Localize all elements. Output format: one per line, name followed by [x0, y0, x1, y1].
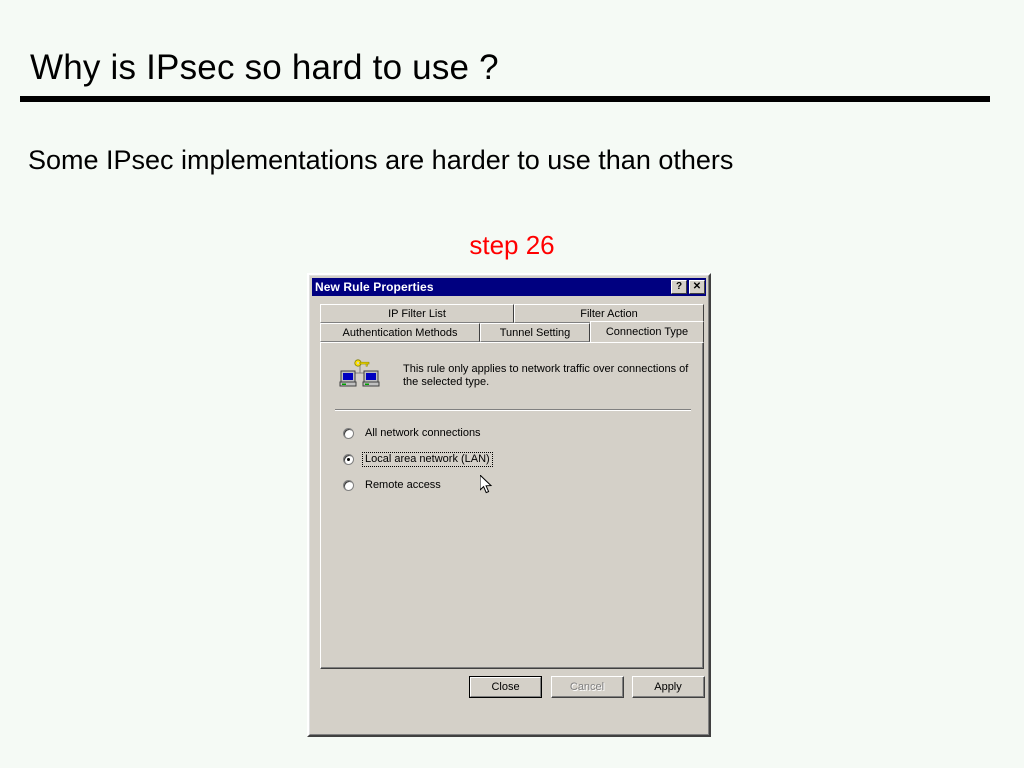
rule-header: This rule only applies to network traffi… — [339, 357, 689, 395]
tab-authentication-methods[interactable]: Authentication Methods — [320, 323, 480, 342]
radio-all-network-connections-label: All network connections — [363, 427, 483, 440]
radio-button-icon — [343, 480, 354, 491]
radio-local-area-network-label: Local area network (LAN) — [363, 453, 492, 466]
help-icon[interactable]: ? — [671, 280, 687, 294]
close-button-label: Close — [470, 677, 541, 697]
connection-type-tab-page: This rule only applies to network traffi… — [320, 342, 704, 669]
new-rule-properties-dialog: New Rule Properties ? ✕ IP Filter List F… — [307, 273, 711, 737]
radio-button-icon — [343, 428, 354, 439]
tab-authentication-methods-label: Authentication Methods — [343, 327, 458, 339]
step-label: step 26 — [0, 230, 1024, 261]
radio-remote-access[interactable]: Remote access — [343, 479, 673, 492]
cancel-button-label: Cancel — [552, 677, 623, 697]
radio-button-icon — [343, 454, 354, 465]
tab-page-inner-frame: This rule only applies to network traffi… — [321, 343, 703, 668]
title-underline-rule — [20, 96, 990, 102]
page-title: Why is IPsec so hard to use ? — [30, 48, 499, 88]
radio-all-network-connections[interactable]: All network connections — [343, 427, 673, 440]
slide-subtitle: Some IPsec implementations are harder to… — [28, 145, 733, 176]
dialog-titlebar[interactable]: New Rule Properties ? ✕ — [312, 278, 706, 296]
tab-tunnel-setting-label: Tunnel Setting — [500, 327, 571, 339]
tab-filter-action-label: Filter Action — [580, 308, 637, 320]
tab-ip-filter-list[interactable]: IP Filter List — [320, 304, 514, 323]
dialog-button-bar: Close Cancel Apply — [310, 676, 710, 706]
dialog-title-text: New Rule Properties — [315, 278, 669, 296]
rule-description-text: This rule only applies to network traffi… — [403, 363, 689, 389]
apply-button-label: Apply — [633, 677, 704, 697]
dialog-inner-frame: New Rule Properties ? ✕ IP Filter List F… — [309, 275, 709, 735]
tab-strip: IP Filter List Filter Action Authenticat… — [320, 304, 704, 342]
tab-tunnel-setting[interactable]: Tunnel Setting — [480, 323, 590, 342]
two-computers-with-key-icon — [339, 359, 381, 395]
tab-connection-type-label: Connection Type — [606, 326, 688, 338]
apply-button[interactable]: Apply — [632, 676, 705, 698]
close-icon[interactable]: ✕ — [689, 280, 705, 294]
radio-local-area-network[interactable]: Local area network (LAN) — [343, 453, 673, 466]
radio-remote-access-label: Remote access — [363, 479, 443, 492]
cancel-button: Cancel — [551, 676, 624, 698]
tab-row-bottom: Authentication Methods Tunnel Setting Co… — [320, 323, 704, 342]
close-button[interactable]: Close — [469, 676, 542, 698]
connection-type-radio-group: All network connections Local area netwo… — [343, 427, 673, 505]
header-separator — [335, 409, 691, 411]
tab-ip-filter-list-label: IP Filter List — [388, 308, 446, 320]
tab-connection-type[interactable]: Connection Type — [590, 321, 704, 342]
